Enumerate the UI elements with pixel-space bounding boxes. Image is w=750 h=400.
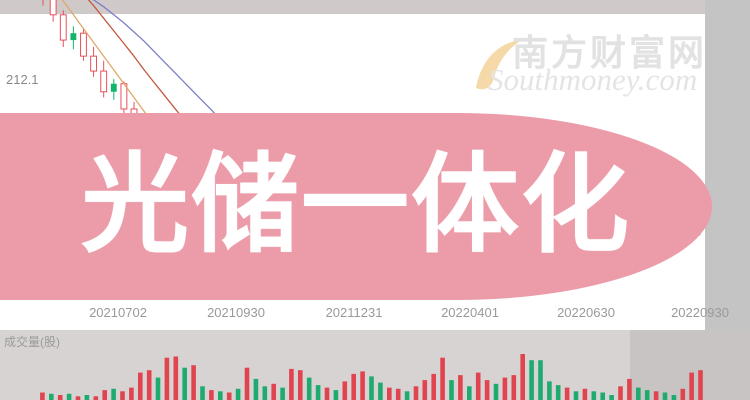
x-axis-tick-label: 20220630 [557, 305, 615, 320]
x-axis-tick-label: 20210930 [207, 305, 265, 320]
x-axis-tick-label: 20210702 [89, 305, 147, 320]
x-axis-tick-label: 20220930 [671, 305, 729, 320]
y-axis-tick-label: 212.1 [6, 72, 39, 87]
volume-chart[interactable] [0, 330, 750, 400]
stock-chart-screenshot: 成交量(股) 212.1 121.9 31.8 光储一体化 2021070220… [0, 0, 750, 400]
campaign-banner-title: 光储一体化 [0, 125, 712, 285]
x-axis-tick-label: 20211231 [326, 305, 383, 320]
volume-axis-title: 成交量(股) [4, 333, 60, 350]
x-axis-tick-label: 20220401 [441, 305, 499, 320]
watermark-backdrop [462, 18, 702, 108]
x-axis: 2021070220210930202112312022040120220630… [0, 300, 712, 330]
